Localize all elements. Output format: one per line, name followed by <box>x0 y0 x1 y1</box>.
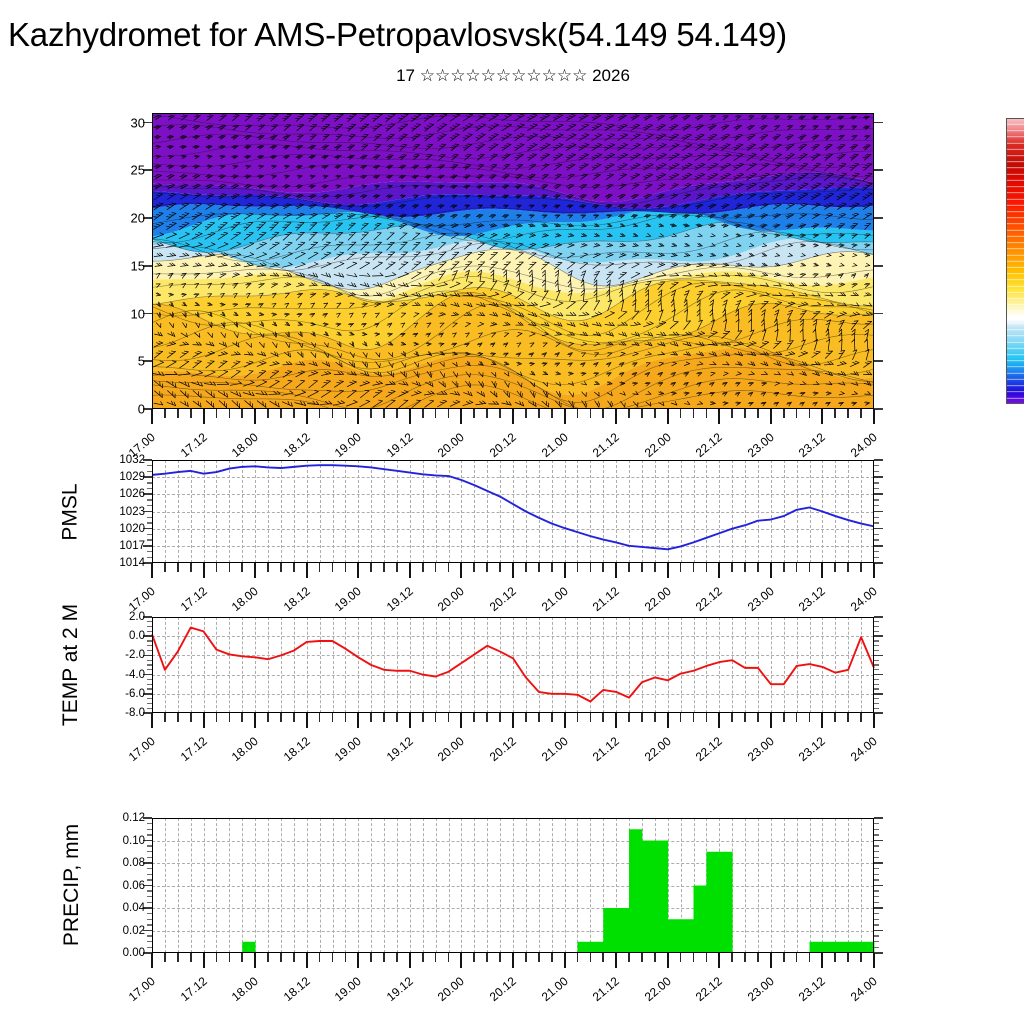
x-tick-minor <box>525 953 527 962</box>
y-tick-label: 1017 <box>119 540 145 552</box>
x-tick-minor <box>383 953 385 962</box>
y-tick-label: 0 <box>138 402 145 417</box>
y-tick-label: 0.00 <box>123 947 145 959</box>
x-tick-label: 23.00 <box>745 974 777 1004</box>
x-tick-label: 22.12 <box>693 584 725 614</box>
x-tick-minor <box>241 563 243 572</box>
y-tick-minor-right <box>874 874 879 875</box>
colorbar-band-lines <box>1006 118 1024 404</box>
x-tick-major <box>357 409 359 424</box>
y-tick-minor-right <box>874 868 879 869</box>
x-tick-minor <box>551 563 553 572</box>
y-tick-minor-right <box>874 698 879 699</box>
y-tick-major-right <box>874 360 883 362</box>
x-tick-minor <box>499 713 501 722</box>
x-tick-minor <box>706 953 708 962</box>
x-tick-label: 19.00 <box>332 734 364 764</box>
x-tick-major <box>718 563 720 578</box>
y-tick-minor <box>147 684 152 685</box>
x-tick-minor <box>834 563 836 572</box>
y-tick-minor-right <box>874 688 879 689</box>
x-tick-minor <box>602 563 604 572</box>
y-tick-major-right <box>874 476 883 478</box>
y-tick-major-right <box>874 408 883 410</box>
x-tick-label: 22.00 <box>641 430 673 460</box>
y-tick-label: -8.0 <box>125 707 145 719</box>
y-tick-major-right <box>874 930 883 932</box>
y-tick-label: -4.0 <box>125 669 145 681</box>
y-tick-minor <box>147 645 152 646</box>
y-tick-minor-right <box>874 645 879 646</box>
y-tick-minor-right <box>874 684 879 685</box>
y-tick-minor-right <box>874 660 879 661</box>
x-tick-major <box>409 409 411 424</box>
x-tick-label: 17.12 <box>177 584 209 614</box>
x-tick-minor <box>280 713 282 722</box>
x-tick-minor <box>796 713 798 722</box>
y-tick-minor <box>147 517 152 518</box>
x-tick-label: 17.12 <box>177 734 209 764</box>
x-tick-minor <box>602 953 604 962</box>
pmsl-panel-frame <box>152 460 874 563</box>
pmsl-axis-caption-text: PMSL <box>59 483 83 540</box>
x-tick-minor <box>177 953 179 962</box>
y-tick-minor-right <box>874 534 879 535</box>
y-tick-minor-right <box>874 919 879 920</box>
x-tick-minor <box>448 953 450 962</box>
y-tick-minor-right <box>874 465 879 466</box>
x-tick-label: 21.00 <box>538 430 570 460</box>
x-tick-major <box>564 563 566 578</box>
x-tick-minor <box>654 409 656 418</box>
y-tick-major-right <box>874 122 883 124</box>
x-tick-label: 17.12 <box>177 974 209 1004</box>
y-tick-minor <box>147 947 152 948</box>
x-tick-minor <box>332 563 334 572</box>
y-tick-major-right <box>874 635 883 637</box>
temp-panel[interactable]: -8.0-6.0-4.0-2.00.02.0 17.0017.1218.0018… <box>152 617 874 713</box>
x-tick-minor <box>267 409 269 418</box>
y-tick-minor <box>147 845 152 846</box>
x-tick-major <box>770 563 772 578</box>
x-tick-major <box>203 953 205 968</box>
y-tick-minor <box>147 913 152 914</box>
x-tick-minor <box>538 409 540 418</box>
x-tick-label: 22.00 <box>641 734 673 764</box>
x-tick-major <box>564 713 566 728</box>
x-tick-minor <box>641 409 643 418</box>
y-tick-minor-right <box>874 626 879 627</box>
y-tick-label: 0.10 <box>123 835 145 847</box>
y-tick-minor-right <box>874 902 879 903</box>
x-tick-label: 23.12 <box>796 974 828 1004</box>
pmsl-panel[interactable]: 1014101710201023102610291032 17.0017.121… <box>152 460 874 563</box>
y-tick-minor <box>147 650 152 651</box>
x-tick-minor <box>628 713 630 722</box>
x-tick-minor <box>538 563 540 572</box>
x-tick-minor <box>267 713 269 722</box>
x-tick-minor <box>177 563 179 572</box>
x-tick-minor <box>551 409 553 418</box>
x-tick-major <box>460 713 462 728</box>
x-tick-minor <box>796 409 798 418</box>
x-tick-minor <box>590 953 592 962</box>
x-tick-minor <box>293 953 295 962</box>
x-tick-minor <box>860 563 862 572</box>
x-tick-major <box>667 953 669 968</box>
x-tick-minor <box>834 713 836 722</box>
x-tick-major <box>718 713 720 728</box>
y-tick-minor <box>147 621 152 622</box>
x-tick-label: 21.00 <box>538 974 570 1004</box>
x-tick-minor <box>435 953 437 962</box>
x-tick-minor <box>809 713 811 722</box>
x-tick-minor <box>435 409 437 418</box>
x-tick-minor <box>628 953 630 962</box>
y-tick-label: 0.12 <box>123 812 145 824</box>
y-tick-major-right <box>874 862 883 864</box>
temp-axis-caption-text: TEMP at 2 M <box>59 604 83 726</box>
x-tick-minor <box>216 409 218 418</box>
x-tick-minor <box>473 713 475 722</box>
x-tick-minor <box>809 953 811 962</box>
x-tick-minor <box>783 953 785 962</box>
y-tick-major-right <box>874 265 883 267</box>
x-tick-major <box>409 563 411 578</box>
x-tick-minor <box>590 713 592 722</box>
x-tick-label: 20.00 <box>435 584 467 614</box>
x-tick-minor <box>241 409 243 418</box>
y-tick-minor <box>147 471 152 472</box>
y-tick-minor-right <box>874 913 879 914</box>
x-tick-label: 21.00 <box>538 584 570 614</box>
y-tick-major-right <box>874 313 883 315</box>
y-tick-minor <box>147 874 152 875</box>
x-tick-minor <box>744 953 746 962</box>
x-tick-major <box>306 953 308 968</box>
x-tick-major <box>203 713 205 728</box>
x-tick-minor <box>164 409 166 418</box>
x-tick-minor <box>706 713 708 722</box>
y-tick-minor-right <box>874 471 879 472</box>
y-tick-minor-right <box>874 482 879 483</box>
x-tick-label: 24.00 <box>848 584 880 614</box>
y-tick-label: 1023 <box>119 506 145 518</box>
y-tick-major-right <box>874 169 883 171</box>
y-tick-minor-right <box>874 650 879 651</box>
x-tick-label: 18.00 <box>229 974 261 1004</box>
y-tick-minor <box>147 679 152 680</box>
x-tick-minor <box>280 953 282 962</box>
x-tick-major <box>254 713 256 728</box>
x-tick-major <box>409 953 411 968</box>
y-tick-major-right <box>874 693 883 695</box>
x-tick-minor <box>486 563 488 572</box>
precip-panel[interactable]: 0.000.020.040.060.080.100.12 17.0017.121… <box>152 818 874 953</box>
x-tick-minor <box>370 713 372 722</box>
x-tick-minor <box>293 563 295 572</box>
y-tick-label: 1026 <box>119 488 145 500</box>
y-tick-minor-right <box>874 829 879 830</box>
y-tick-minor <box>147 935 152 936</box>
y-tick-major-right <box>874 674 883 676</box>
x-tick-major <box>460 953 462 968</box>
x-tick-label: 23.12 <box>796 734 828 764</box>
x-tick-label: 17.12 <box>177 430 209 460</box>
x-tick-minor <box>332 713 334 722</box>
y-tick-major-right <box>874 493 883 495</box>
x-tick-minor <box>267 953 269 962</box>
y-tick-minor <box>147 703 152 704</box>
x-tick-minor <box>628 409 630 418</box>
x-tick-minor <box>796 953 798 962</box>
y-tick-minor-right <box>874 621 879 622</box>
x-tick-major <box>512 713 514 728</box>
x-tick-major <box>821 713 823 728</box>
y-tick-minor-right <box>874 640 879 641</box>
y-tick-minor-right <box>874 857 879 858</box>
x-tick-major <box>873 953 875 968</box>
x-tick-minor <box>332 409 334 418</box>
x-tick-minor <box>757 713 759 722</box>
y-tick-major-right <box>874 217 883 219</box>
x-tick-minor <box>332 953 334 962</box>
y-tick-minor <box>147 488 152 489</box>
y-tick-minor <box>147 708 152 709</box>
x-tick-minor <box>396 953 398 962</box>
x-tick-major <box>770 953 772 968</box>
x-tick-major <box>821 953 823 968</box>
x-tick-label: 18.12 <box>280 734 312 764</box>
x-tick-minor <box>577 713 579 722</box>
x-tick-minor <box>319 713 321 722</box>
x-tick-label: 22.12 <box>693 430 725 460</box>
x-tick-minor <box>706 563 708 572</box>
x-tick-minor <box>164 563 166 572</box>
y-tick-label: 1029 <box>119 471 145 483</box>
x-tick-label: 20.00 <box>435 734 467 764</box>
y-tick-label: 10 <box>131 306 145 321</box>
y-tick-minor-right <box>874 488 879 489</box>
x-tick-label: 23.00 <box>745 430 777 460</box>
y-tick-minor <box>147 896 152 897</box>
x-tick-minor <box>473 409 475 418</box>
y-tick-minor <box>147 482 152 483</box>
x-tick-label: 23.12 <box>796 430 828 460</box>
y-tick-label: 1020 <box>119 523 145 535</box>
y-tick-minor <box>147 505 152 506</box>
temp-panel-frame <box>152 617 874 713</box>
x-tick-minor <box>448 713 450 722</box>
y-tick-minor <box>147 669 152 670</box>
x-tick-label: 19.12 <box>384 974 416 1004</box>
x-tick-major <box>873 713 875 728</box>
y-tick-minor <box>147 660 152 661</box>
x-tick-minor <box>422 563 424 572</box>
x-tick-major <box>357 713 359 728</box>
x-tick-minor <box>319 953 321 962</box>
x-tick-minor <box>577 409 579 418</box>
y-tick-minor <box>147 890 152 891</box>
y-tick-minor <box>147 851 152 852</box>
x-tick-label: 20.00 <box>435 430 467 460</box>
x-tick-major <box>667 409 669 424</box>
y-tick-minor <box>147 465 152 466</box>
x-tick-label: 22.00 <box>641 584 673 614</box>
x-tick-major <box>615 563 617 578</box>
x-tick-label: 21.12 <box>590 974 622 1004</box>
x-tick-minor <box>229 713 231 722</box>
y-tick-minor-right <box>874 539 879 540</box>
y-tick-minor-right <box>874 845 879 846</box>
x-tick-minor <box>448 409 450 418</box>
x-tick-major <box>564 409 566 424</box>
y-tick-minor <box>147 834 152 835</box>
x-tick-label: 23.00 <box>745 584 777 614</box>
y-tick-minor <box>147 902 152 903</box>
y-tick-minor-right <box>874 703 879 704</box>
x-tick-label: 23.00 <box>745 734 777 764</box>
x-tick-label: 23.12 <box>796 584 828 614</box>
x-tick-label: 22.12 <box>693 734 725 764</box>
x-tick-minor <box>499 409 501 418</box>
y-tick-minor-right <box>874 708 879 709</box>
x-tick-minor <box>280 563 282 572</box>
x-tick-minor <box>319 409 321 418</box>
x-tick-major <box>873 563 875 578</box>
x-tick-minor <box>577 953 579 962</box>
x-tick-minor <box>847 563 849 572</box>
x-tick-minor <box>486 953 488 962</box>
x-tick-minor <box>435 563 437 572</box>
wind-panel-frame <box>152 113 874 409</box>
y-tick-major-right <box>874 528 883 530</box>
x-tick-label: 20.12 <box>487 974 519 1004</box>
x-tick-minor <box>345 953 347 962</box>
x-tick-minor <box>190 953 192 962</box>
x-tick-minor <box>241 713 243 722</box>
x-tick-label: 18.12 <box>280 430 312 460</box>
wind-cross-section-panel[interactable]: 051015202530 17.0017.1218.0018.1219.0019… <box>152 113 874 409</box>
x-tick-minor <box>229 409 231 418</box>
x-tick-label: 17.00 <box>126 734 158 764</box>
y-tick-minor-right <box>874 551 879 552</box>
x-tick-minor <box>628 563 630 572</box>
x-tick-minor <box>177 409 179 418</box>
x-tick-minor <box>744 713 746 722</box>
x-tick-label: 21.12 <box>590 734 622 764</box>
x-tick-major <box>203 563 205 578</box>
y-tick-major-right <box>874 511 883 513</box>
x-tick-minor <box>216 713 218 722</box>
x-tick-major <box>460 409 462 424</box>
y-tick-label: -2.0 <box>125 649 145 661</box>
x-tick-minor <box>834 953 836 962</box>
x-tick-minor <box>847 953 849 962</box>
x-tick-minor <box>177 713 179 722</box>
x-tick-minor <box>847 713 849 722</box>
x-tick-label: 24.00 <box>848 974 880 1004</box>
x-tick-minor <box>293 409 295 418</box>
x-tick-major <box>306 563 308 578</box>
x-tick-minor <box>680 563 682 572</box>
y-tick-label: 30 <box>131 115 145 130</box>
x-tick-minor <box>641 563 643 572</box>
x-tick-major <box>667 563 669 578</box>
y-tick-minor-right <box>874 499 879 500</box>
x-tick-minor <box>370 953 372 962</box>
y-tick-minor-right <box>874 947 879 948</box>
x-tick-label: 24.00 <box>848 734 880 764</box>
x-tick-minor <box>680 409 682 418</box>
y-tick-minor <box>147 631 152 632</box>
x-tick-major <box>409 713 411 728</box>
y-tick-minor <box>147 534 152 535</box>
x-tick-major <box>512 409 514 424</box>
x-tick-minor <box>525 409 527 418</box>
x-tick-minor <box>229 953 231 962</box>
y-tick-major-right <box>874 545 883 547</box>
x-tick-minor <box>783 713 785 722</box>
x-tick-major <box>254 563 256 578</box>
y-tick-minor-right <box>874 935 879 936</box>
y-tick-label: 0.02 <box>123 925 145 937</box>
x-tick-label: 17.00 <box>126 974 158 1004</box>
y-tick-minor-right <box>874 879 879 880</box>
x-tick-minor <box>164 713 166 722</box>
y-tick-minor <box>147 640 152 641</box>
y-tick-label: 5 <box>138 354 145 369</box>
x-tick-major <box>718 409 720 424</box>
x-tick-minor <box>590 563 592 572</box>
y-tick-minor-right <box>874 522 879 523</box>
x-tick-minor <box>860 953 862 962</box>
x-tick-minor <box>744 409 746 418</box>
x-tick-minor <box>551 713 553 722</box>
x-tick-major <box>512 953 514 968</box>
y-tick-minor-right <box>874 631 879 632</box>
x-tick-minor <box>422 409 424 418</box>
y-tick-minor-right <box>874 896 879 897</box>
y-tick-minor <box>147 551 152 552</box>
x-tick-minor <box>448 563 450 572</box>
x-tick-minor <box>641 713 643 722</box>
x-tick-minor <box>757 953 759 962</box>
y-tick-minor <box>147 879 152 880</box>
x-tick-minor <box>280 409 282 418</box>
x-tick-major <box>357 953 359 968</box>
x-tick-minor <box>860 713 862 722</box>
x-tick-major <box>151 409 153 424</box>
x-tick-minor <box>525 713 527 722</box>
x-tick-minor <box>654 713 656 722</box>
y-tick-label: 25 <box>131 163 145 178</box>
y-tick-minor-right <box>874 851 879 852</box>
chart-date-subtitle: 17 ☆☆☆☆☆☆☆☆☆☆☆ 2026 <box>152 66 874 86</box>
x-tick-major <box>564 953 566 968</box>
y-tick-label: 1032 <box>119 454 145 466</box>
x-tick-minor <box>577 563 579 572</box>
x-tick-minor <box>345 563 347 572</box>
x-tick-minor <box>383 713 385 722</box>
y-tick-minor <box>147 941 152 942</box>
x-tick-minor <box>370 563 372 572</box>
y-tick-minor-right <box>874 517 879 518</box>
y-tick-major-right <box>874 562 883 564</box>
x-tick-major <box>770 713 772 728</box>
x-tick-major <box>151 953 153 968</box>
y-tick-label: 2.0 <box>129 611 145 623</box>
